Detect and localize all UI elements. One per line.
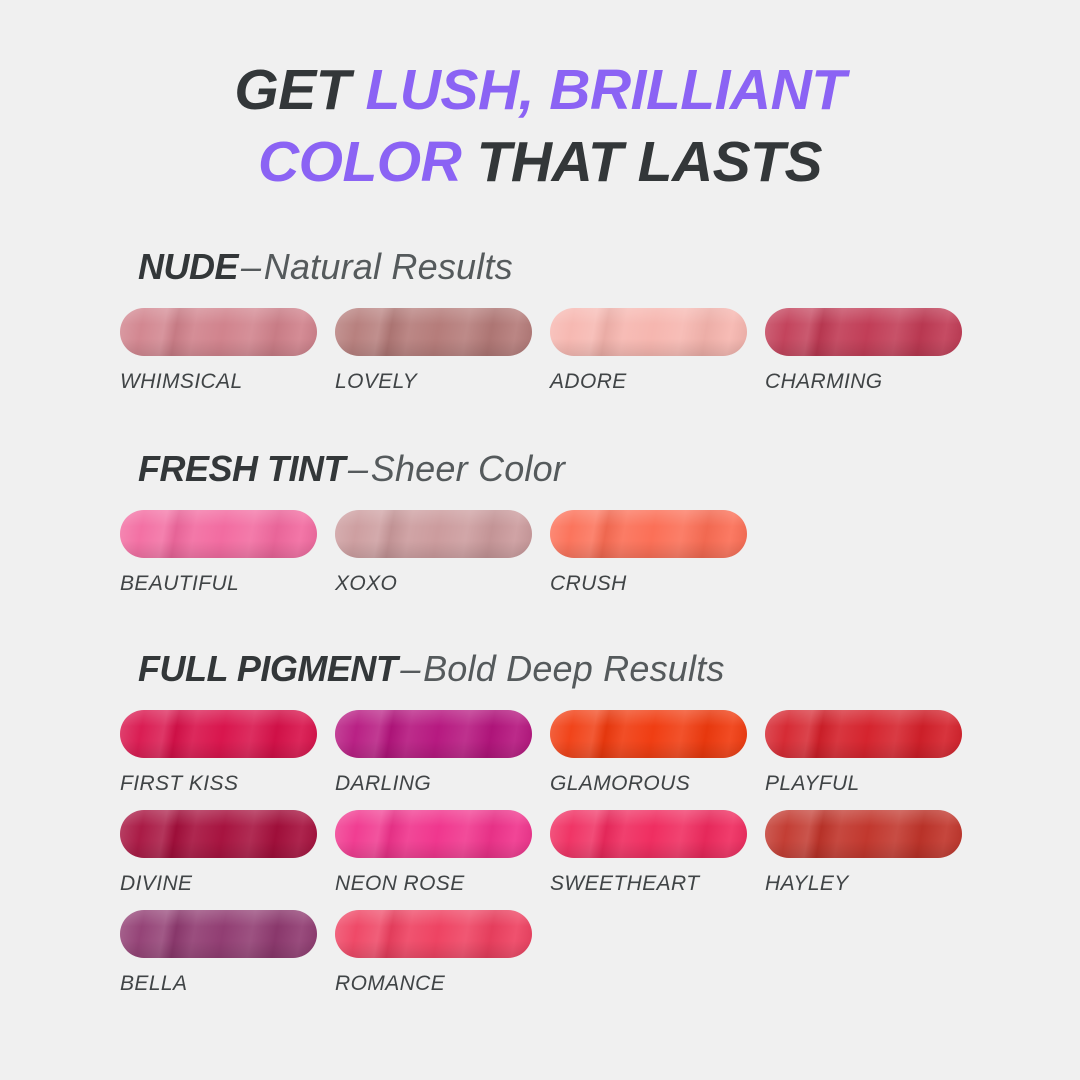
section-heading-nude: NUDE–Natural Results xyxy=(138,244,1080,290)
swatch-romance[interactable]: ROMANCE xyxy=(335,910,550,1010)
section-nude: NUDE–Natural Results WHIMSICAL LOVELY AD… xyxy=(0,244,1080,408)
swatch-row: BELLA ROMANCE xyxy=(120,910,1080,1010)
swatch-label: GLAMOROUS xyxy=(550,773,765,794)
section-description-label: Sheer Color xyxy=(371,448,565,489)
section-description-label: Natural Results xyxy=(264,246,513,287)
swatch-chip xyxy=(765,810,962,858)
swatch-row: DIVINE NEON ROSE SWEETHEART HAYLEY xyxy=(120,810,1080,910)
swatch-chip xyxy=(550,510,747,558)
swatch-label: CRUSH xyxy=(550,573,765,594)
swatch-chip xyxy=(550,810,747,858)
section-category-label: NUDE xyxy=(138,246,238,287)
swatch-grid-nude: WHIMSICAL LOVELY ADORE CHARMING xyxy=(120,308,1080,408)
swatch-label: PLAYFUL xyxy=(765,773,980,794)
swatch-grid-full-pigment: FIRST KISS DARLING GLAMOROUS PLAYFUL xyxy=(120,710,1080,1010)
swatch-chip xyxy=(335,810,532,858)
swatch-chip xyxy=(120,910,317,958)
swatch-chip xyxy=(120,810,317,858)
section-category-label: FULL PIGMENT xyxy=(138,648,397,689)
swatch-adore[interactable]: ADORE xyxy=(550,308,765,408)
page-title-accent-2: COLOR xyxy=(258,130,461,194)
swatch-neon-rose[interactable]: NEON ROSE xyxy=(335,810,550,910)
page-title-dark-2: THAT LASTS xyxy=(461,130,822,194)
swatch-chip xyxy=(120,308,317,356)
swatch-chip xyxy=(765,710,962,758)
swatch-label: CHARMING xyxy=(765,371,980,392)
lipstick-shade-chart: GET LUSH, BRILLIANT COLOR THAT LASTS NUD… xyxy=(0,0,1080,1080)
swatch-chip xyxy=(550,710,747,758)
section-heading-fresh-tint: FRESH TINT–Sheer Color xyxy=(138,446,1080,492)
swatch-darling[interactable]: DARLING xyxy=(335,710,550,810)
swatch-xoxo[interactable]: XOXO xyxy=(335,510,550,610)
swatch-label: DIVINE xyxy=(120,873,335,894)
section-heading-full-pigment: FULL PIGMENT–Bold Deep Results xyxy=(138,646,1080,692)
section-fresh-tint: FRESH TINT–Sheer Color BEAUTIFUL XOXO CR… xyxy=(0,446,1080,610)
page-title: GET LUSH, BRILLIANT COLOR THAT LASTS xyxy=(0,54,1080,198)
section-full-pigment: FULL PIGMENT–Bold Deep Results FIRST KIS… xyxy=(0,646,1080,1010)
section-description-label: Bold Deep Results xyxy=(423,648,725,689)
swatch-charming[interactable]: CHARMING xyxy=(765,308,980,408)
swatch-label: NEON ROSE xyxy=(335,873,550,894)
swatch-label: ADORE xyxy=(550,371,765,392)
swatch-first-kiss[interactable]: FIRST KISS xyxy=(120,710,335,810)
section-dash: – xyxy=(238,246,264,287)
swatch-crush[interactable]: CRUSH xyxy=(550,510,765,610)
swatch-chip xyxy=(550,308,747,356)
section-dash: – xyxy=(397,648,423,689)
swatch-divine[interactable]: DIVINE xyxy=(120,810,335,910)
swatch-hayley[interactable]: HAYLEY xyxy=(765,810,980,910)
page-title-dark-1: GET xyxy=(234,58,365,122)
swatch-label: BEAUTIFUL xyxy=(120,573,335,594)
swatch-chip xyxy=(335,308,532,356)
swatch-sweetheart[interactable]: SWEETHEART xyxy=(550,810,765,910)
page-title-line-1: GET LUSH, BRILLIANT xyxy=(0,54,1080,126)
swatch-glamorous[interactable]: GLAMOROUS xyxy=(550,710,765,810)
section-category-label: FRESH TINT xyxy=(138,448,345,489)
swatch-chip xyxy=(335,910,532,958)
swatch-whimsical[interactable]: WHIMSICAL xyxy=(120,308,335,408)
swatch-playful[interactable]: PLAYFUL xyxy=(765,710,980,810)
swatch-label: XOXO xyxy=(335,573,550,594)
swatch-label: WHIMSICAL xyxy=(120,371,335,392)
swatch-label: SWEETHEART xyxy=(550,873,765,894)
swatch-chip xyxy=(335,510,532,558)
swatch-bella[interactable]: BELLA xyxy=(120,910,335,1010)
swatch-label: LOVELY xyxy=(335,371,550,392)
swatch-chip xyxy=(120,510,317,558)
swatch-label: DARLING xyxy=(335,773,550,794)
swatch-label: BELLA xyxy=(120,973,335,994)
swatch-grid-fresh-tint: BEAUTIFUL XOXO CRUSH xyxy=(120,510,1080,610)
swatch-row: WHIMSICAL LOVELY ADORE CHARMING xyxy=(120,308,1080,408)
page-title-line-2: COLOR THAT LASTS xyxy=(0,126,1080,198)
page-title-accent-1: LUSH, BRILLIANT xyxy=(365,58,845,122)
swatch-label: FIRST KISS xyxy=(120,773,335,794)
swatch-beautiful[interactable]: BEAUTIFUL xyxy=(120,510,335,610)
swatch-chip xyxy=(120,710,317,758)
swatch-row: BEAUTIFUL XOXO CRUSH xyxy=(120,510,1080,610)
swatch-label: ROMANCE xyxy=(335,973,550,994)
swatch-label: HAYLEY xyxy=(765,873,980,894)
swatch-chip xyxy=(765,308,962,356)
swatch-row: FIRST KISS DARLING GLAMOROUS PLAYFUL xyxy=(120,710,1080,810)
swatch-chip xyxy=(335,710,532,758)
section-dash: – xyxy=(345,448,371,489)
swatch-lovely[interactable]: LOVELY xyxy=(335,308,550,408)
